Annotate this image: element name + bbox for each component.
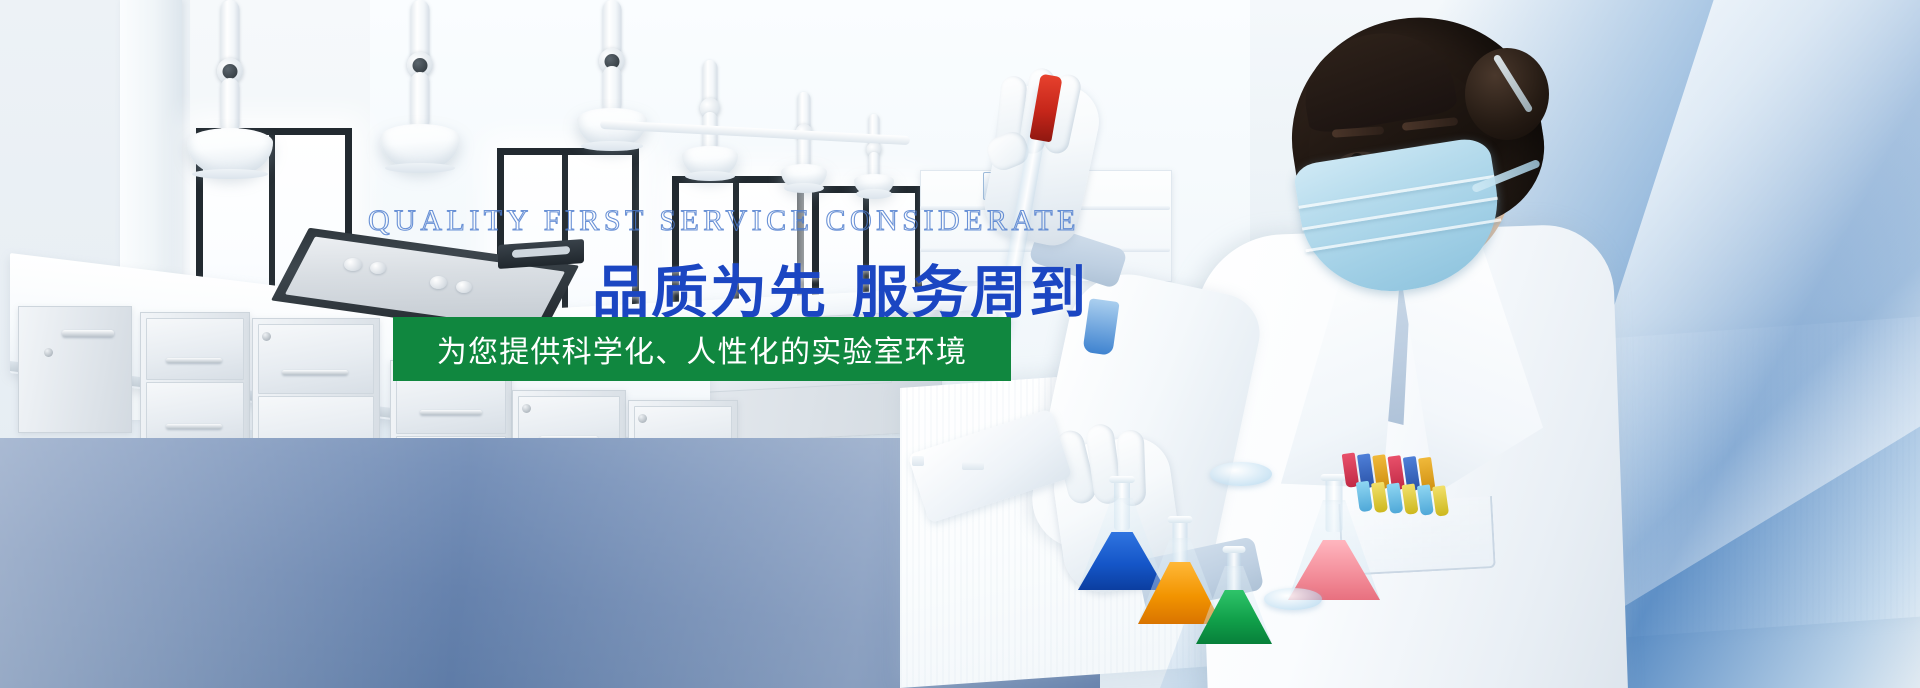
subtitle-text: 为您提供科学化、人性化的实验室环境 [437,327,967,371]
banner-text-overlay: QUALITY FIRST SERVICE CONSIDERATE 品质为先服务… [0,0,1920,688]
headline-part-1: 品质为先 [592,261,828,325]
english-tagline: QUALITY FIRST SERVICE CONSIDERATE [368,204,1080,238]
subtitle-banner: 为您提供科学化、人性化的实验室环境 [393,317,1011,381]
hero-banner: QUALITY FIRST SERVICE CONSIDERATE 品质为先服务… [0,0,1920,688]
headline-part-2: 服务周到 [852,261,1088,325]
